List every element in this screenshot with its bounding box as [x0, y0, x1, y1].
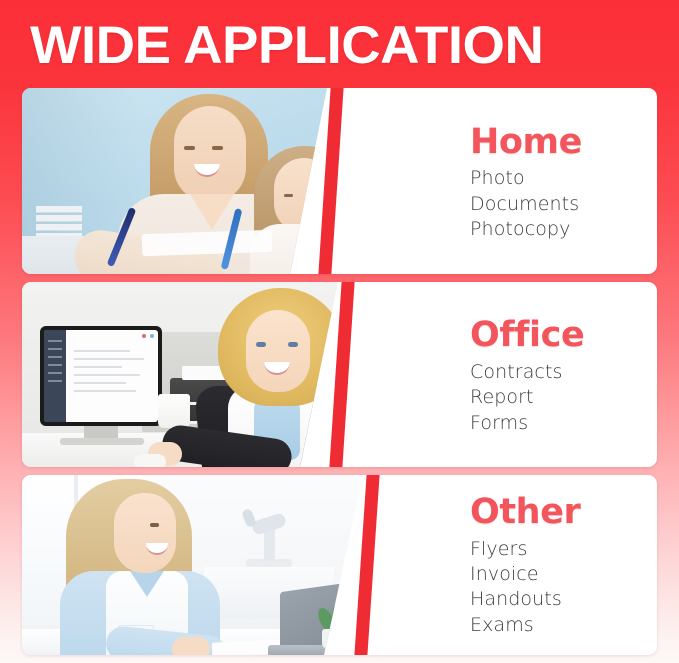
- computer-monitor-icon: [40, 326, 162, 426]
- card-heading-home: Home: [470, 124, 582, 161]
- card-heading-office: Office: [470, 317, 584, 354]
- card-list-office: Contracts Report Forms: [470, 360, 584, 436]
- list-item: Contracts: [470, 360, 584, 385]
- list-item: Documents: [470, 192, 582, 217]
- list-item: Photo: [470, 166, 582, 191]
- card-list-home: Photo Documents Photocopy: [470, 166, 582, 242]
- card-divider-home: [318, 88, 352, 274]
- card-photo-other: [22, 475, 362, 655]
- scene-home-tutoring: [22, 88, 362, 274]
- list-item: Invoice: [470, 562, 580, 587]
- card-photo-office: [22, 282, 362, 467]
- list-item: Handouts: [470, 587, 580, 612]
- books-stack-icon: [36, 196, 82, 240]
- list-item: Photocopy: [470, 217, 582, 242]
- card-heading-other: Other: [470, 494, 580, 531]
- scene-lab-laptop: [22, 475, 362, 655]
- card-text-other: Other Flyers Invoice Handouts Exams: [470, 475, 580, 655]
- laptop-icon: [280, 582, 354, 654]
- application-card-other: Other Flyers Invoice Handouts Exams: [22, 475, 657, 655]
- scene-office-desk: [22, 282, 362, 467]
- computer-mouse-icon: [134, 454, 166, 467]
- list-item: Flyers: [470, 537, 580, 562]
- card-divider-other: [354, 475, 388, 655]
- poster-title: WIDE APPLICATION: [30, 19, 543, 72]
- wide-application-poster: WIDE APPLICATION: [0, 0, 679, 663]
- poster-title-container: WIDE APPLICATION: [0, 14, 679, 76]
- list-item: Exams: [470, 613, 580, 638]
- card-photo-home: [22, 88, 362, 274]
- list-item: Forms: [470, 411, 584, 436]
- application-card-office: Office Contracts Report Forms: [22, 282, 657, 467]
- list-item: Report: [470, 385, 584, 410]
- application-card-home: Home Photo Documents Photocopy: [22, 88, 657, 274]
- plant-icon: [322, 629, 350, 649]
- card-text-office: Office Contracts Report Forms: [470, 282, 584, 467]
- card-divider-office: [329, 282, 363, 467]
- coffee-mug-icon: [158, 394, 190, 428]
- card-text-home: Home Photo Documents Photocopy: [470, 88, 582, 274]
- card-list-other: Flyers Invoice Handouts Exams: [470, 537, 580, 638]
